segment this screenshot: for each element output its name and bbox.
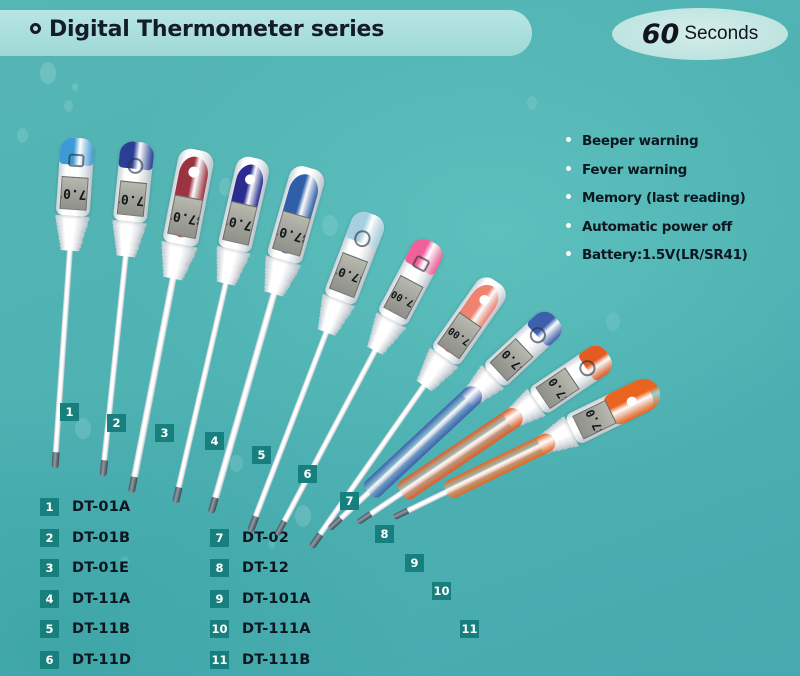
feature-label: Fever warning — [582, 162, 687, 178]
probe-stem — [252, 330, 330, 519]
thermometer-dt-111a: 37.0°C — [599, 341, 617, 368]
legend-number-badge: 2 — [40, 529, 59, 547]
legend-model-label: DT-12 — [242, 560, 289, 576]
probe-tip — [391, 507, 408, 520]
probe-tip — [208, 497, 219, 514]
page-title: Digital Thermometer series — [30, 17, 384, 42]
lcd-display: 37.0°C — [59, 176, 88, 211]
decor-bubble — [75, 418, 91, 439]
probe-stem — [175, 282, 229, 490]
thermometer-dt-02: 37.00°C — [417, 234, 446, 249]
legend-column-a: 1DT-01A2DT-01B3DT-01E4DT-11A5DT-11B6DT-1… — [40, 492, 131, 675]
lcd-value: 37.00 — [389, 287, 421, 311]
lcd-reading: 37.0°C — [167, 207, 203, 227]
feature-label: Battery:1.5V(LR/SR41) — [582, 247, 748, 263]
product-number-badge: 8 — [375, 525, 394, 543]
legend-number-badge: 1 — [40, 498, 59, 516]
thermometer-dt-12: 37.00°C — [483, 272, 511, 292]
legend-number-badge: 10 — [210, 620, 229, 638]
decor-bubble — [72, 83, 78, 91]
poster-canvas: Digital Thermometer series 60 Seconds Be… — [0, 0, 800, 676]
probe-tip — [172, 487, 182, 504]
legend-row: 7DT-02 — [210, 523, 311, 554]
legend-row: 6DT-11D — [40, 645, 131, 676]
product-number-badge: 10 — [432, 582, 451, 600]
legend-row: 2DT-01B — [40, 523, 131, 554]
square-power-icon[interactable] — [68, 153, 85, 168]
lcd-value: 37.0 — [120, 190, 147, 208]
feature-item: Beeper warning — [566, 133, 796, 149]
legend-number-badge: 11 — [210, 651, 229, 669]
probe-tip — [128, 476, 138, 493]
thermometer-dt-11d: 37.0°C — [356, 208, 388, 220]
legend-row: 8DT-12 — [210, 553, 311, 584]
decor-bubble — [322, 215, 338, 236]
lcd-unit: °C — [59, 190, 62, 200]
taper-segment — [60, 246, 80, 252]
legend-model-label: DT-111B — [242, 652, 311, 668]
lcd-reading: 37.0°C — [59, 186, 88, 202]
legend-number-badge: 7 — [210, 529, 229, 547]
legend-column-b: 7DT-028DT-129DT-101A10DT-111A11DT-111B — [210, 523, 311, 676]
lcd-value: 37.0 — [62, 185, 89, 202]
product-number-badge: 5 — [252, 446, 271, 464]
legend-model-label: DT-01E — [72, 560, 129, 576]
product-number-badge: 11 — [460, 620, 479, 638]
legend-model-label: DT-11B — [72, 621, 130, 637]
taper-segment — [116, 251, 136, 257]
bullet-dot-icon — [566, 194, 571, 199]
bullet-dot-icon — [566, 251, 571, 256]
legend-row: 1DT-01A — [40, 492, 131, 523]
probe-tip — [52, 452, 60, 468]
legend-row: 10DT-111A — [210, 614, 311, 645]
legend-row: 3DT-01E — [40, 553, 131, 584]
legend-number-badge: 6 — [40, 651, 59, 669]
legend-model-label: DT-11A — [72, 591, 130, 607]
legend-number-badge: 5 — [40, 620, 59, 638]
product-number-badge: 7 — [340, 492, 359, 510]
decor-bubble — [64, 100, 73, 112]
bullet-dot-icon — [566, 223, 571, 228]
seconds-badge: 60 Seconds — [612, 8, 788, 60]
product-number-badge: 2 — [107, 414, 126, 432]
feature-item: Automatic power off — [566, 219, 796, 235]
probe-tip — [356, 511, 373, 525]
feature-label: Automatic power off — [582, 219, 732, 235]
thermometer-dt-111b: 37.0°C — [643, 377, 657, 407]
bullet-dot-icon — [566, 166, 571, 171]
feature-item: Memory (last reading) — [566, 190, 796, 206]
probe-stem — [53, 250, 74, 455]
thermometer-dt-11b: 37.0°C — [293, 163, 328, 173]
legend-model-label: DT-11D — [72, 652, 131, 668]
thermometer-dt-11a: 37.0°C — [238, 154, 271, 162]
product-number-badge: 1 — [60, 403, 79, 421]
legend-row: 11DT-111B — [210, 645, 311, 676]
feature-item: Battery:1.5V(LR/SR41) — [566, 247, 796, 263]
product-number-badge: 3 — [155, 424, 174, 442]
decor-bubble — [230, 455, 243, 472]
feature-list: Beeper warningFever warningMemory (last … — [566, 133, 796, 276]
legend-row: 5DT-11B — [40, 614, 131, 645]
probe-stem — [131, 277, 177, 480]
legend-row: 4DT-11A — [40, 584, 131, 615]
ring-bullet-icon — [30, 23, 41, 34]
probe-stem — [212, 292, 278, 501]
legend-row: 9DT-101A — [210, 584, 311, 615]
thermometer-dt-01e: 37.0°C — [180, 147, 215, 154]
legend-number-badge: 3 — [40, 559, 59, 577]
page-title-text: Digital Thermometer series — [49, 17, 384, 42]
legend-number-badge: 8 — [210, 559, 229, 577]
thermometer-dt-101a: 37.0°C — [545, 306, 567, 329]
feature-item: Fever warning — [566, 162, 796, 178]
legend-model-label: DT-111A — [242, 621, 311, 637]
legend-model-label: DT-01A — [72, 499, 130, 515]
decor-bubble — [527, 96, 537, 110]
lcd-display: 37.0°C — [117, 180, 148, 217]
product-number-badge: 6 — [298, 465, 317, 483]
bullet-dot-icon — [566, 137, 571, 142]
legend-model-label: DT-01B — [72, 530, 130, 546]
thermometer-dt-01a: 37.0°C — [61, 137, 95, 139]
decor-bubble — [40, 62, 56, 84]
thermometer-dt-01b: 37.0°C — [121, 140, 155, 144]
lcd-value: 37.00 — [446, 325, 477, 351]
product-number-badge: 4 — [205, 432, 224, 450]
decor-bubble — [17, 128, 28, 143]
probe-tip — [99, 460, 107, 477]
legend-number-badge: 4 — [40, 590, 59, 608]
seconds-number: 60 — [642, 19, 680, 50]
decor-bubble — [606, 312, 620, 331]
seconds-label: Seconds — [684, 23, 758, 45]
legend-model-label: DT-101A — [242, 591, 311, 607]
feature-label: Memory (last reading) — [582, 190, 746, 206]
feature-label: Beeper warning — [582, 133, 698, 149]
lcd-reading: 37.0°C — [117, 190, 148, 207]
product-number-badge: 9 — [405, 554, 424, 572]
legend-number-badge: 9 — [210, 590, 229, 608]
